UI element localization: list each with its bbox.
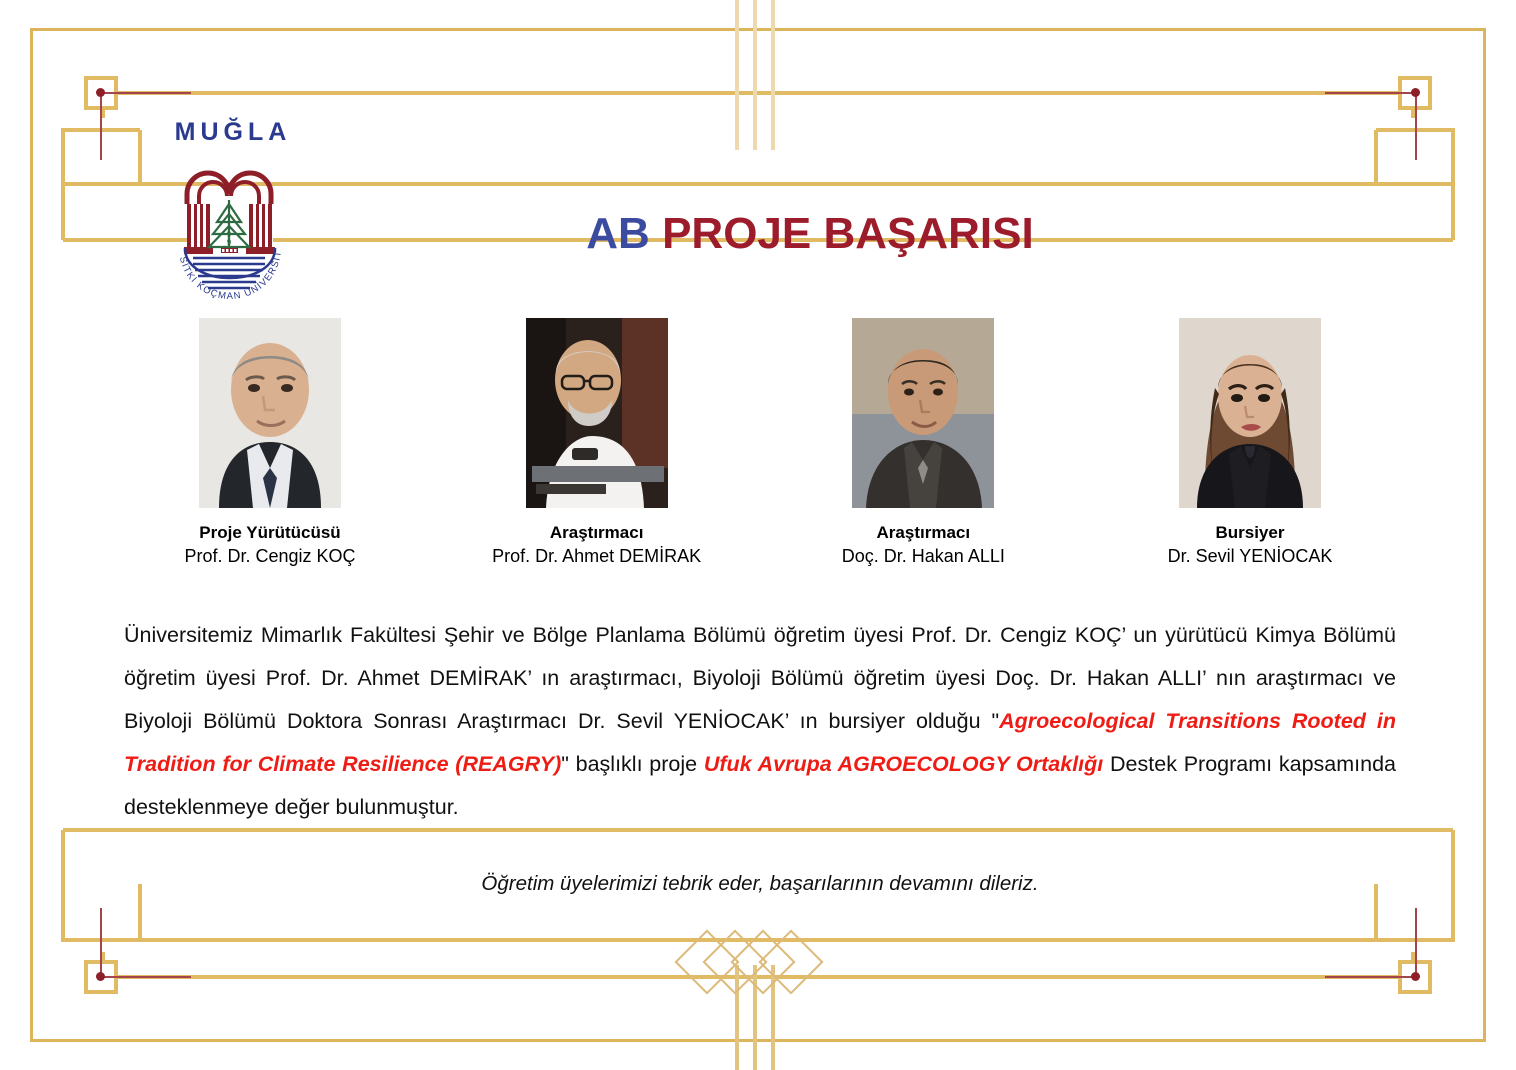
- person-card: Araştırmacı Doç. Dr. Hakan ALLI: [773, 318, 1073, 568]
- person-card: Bursiyer Dr. Sevil YENİOCAK: [1100, 318, 1400, 568]
- person-role: Araştırmacı: [773, 522, 1073, 543]
- person-name: Dr. Sevil YENİOCAK: [1100, 545, 1400, 568]
- body-segment-2: " başlıklı proje: [561, 752, 704, 776]
- svg-text:1: 1: [227, 221, 232, 230]
- portrait-hakan-alli: [852, 318, 994, 508]
- programme-highlight: Ufuk Avrupa AGROECOLOGY Ortaklığı: [704, 752, 1103, 776]
- person-name: Doç. Dr. Hakan ALLI: [773, 545, 1073, 568]
- person-role: Bursiyer: [1100, 522, 1400, 543]
- announcement-body: Üniversitemiz Mimarlık Fakültesi Şehir v…: [124, 614, 1396, 829]
- logo-wordmark: MUĞLA: [168, 118, 298, 147]
- portrait-sevil-yeniocak: [1179, 318, 1321, 508]
- page-title: AB PROJE BAŞARISI: [400, 209, 1220, 259]
- person-card: Proje Yürütücüsü Prof. Dr. Cengiz KOÇ: [120, 318, 420, 568]
- person-name: Prof. Dr. Ahmet DEMİRAK: [447, 545, 747, 568]
- university-logo: MUĞLA: [160, 118, 300, 303]
- person-card: Araştırmacı Prof. Dr. Ahmet DEMİRAK: [447, 318, 747, 568]
- closing-line: Öğretim üyelerimizi tebrik eder, başarıl…: [124, 872, 1396, 896]
- svg-text:9: 9: [227, 238, 232, 247]
- person-role: Araştırmacı: [447, 522, 747, 543]
- person-role: Proje Yürütücüsü: [120, 522, 420, 543]
- logo-emblem-icon: 1 9 9 SITKI KOÇMAN ÜNİVERSİTESİ: [165, 148, 295, 303]
- portrait-cengiz-koc: [199, 318, 341, 508]
- title-main: PROJE BAŞARISI: [662, 209, 1034, 258]
- title-accent: AB: [586, 209, 650, 258]
- portrait-ahmet-demirak: [526, 318, 668, 508]
- person-name: Prof. Dr. Cengiz KOÇ: [120, 545, 420, 568]
- people-row: Proje Yürütücüsü Prof. Dr. Cengiz KOÇ: [120, 318, 1400, 568]
